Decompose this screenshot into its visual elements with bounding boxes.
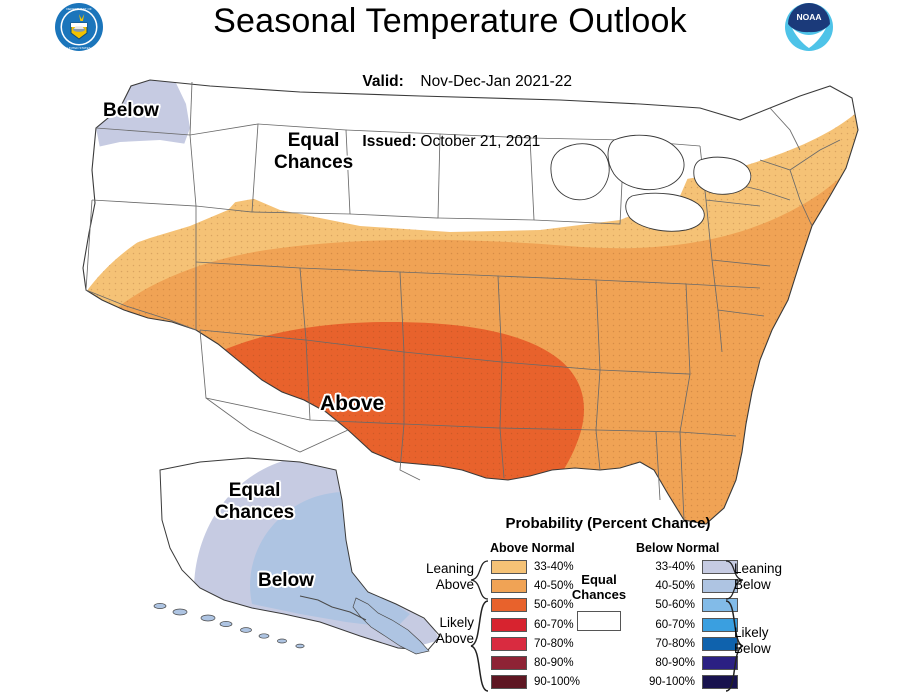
- valid-label: Valid:: [362, 72, 420, 92]
- legend-likely-below-label: Likely Below: [734, 625, 818, 657]
- map-label-below-alaska: Below: [258, 570, 314, 592]
- outlook-map-page: Seasonal Temperature Outlook Valid:Nov-D…: [0, 0, 900, 695]
- svg-text:NOAA: NOAA: [796, 12, 821, 22]
- likely-below-line2: Below: [734, 641, 818, 657]
- map-label-equal-chances-plains-line1: Equal: [274, 130, 353, 152]
- equal-chances-line1: Equal: [553, 572, 645, 587]
- map-label-equal-chances-plains-line2: Chances: [274, 152, 353, 174]
- map-label-below-washington: Below: [103, 100, 159, 122]
- likely-above-line1: Likely: [398, 615, 474, 631]
- legend-range-b-1: 40-50%: [641, 580, 695, 592]
- legend-swatch-a-40-50%: [491, 579, 527, 593]
- issued-value: October 21, 2021: [420, 133, 540, 150]
- legend-range-b-6: 90-100%: [641, 676, 695, 688]
- legend-swatch-a-60-70%: [491, 618, 527, 632]
- legend-title: Probability (Percent Chance): [398, 515, 818, 532]
- leaning-below-line2: Below: [734, 577, 818, 593]
- legend-row-a-6: 90-100%: [491, 673, 588, 692]
- legend-range-b-5: 80-90%: [641, 657, 695, 669]
- leaning-above-line1: Leaning: [398, 561, 474, 577]
- svg-text:DEPARTMENT OF: DEPARTMENT OF: [66, 7, 92, 11]
- legend-likely-above-label: Likely Above: [398, 615, 474, 647]
- legend-swatch-a-33-40%: [491, 560, 527, 574]
- legend-leaning-below-label: Leaning Below: [734, 561, 818, 593]
- equal-chances-swatch: [577, 611, 621, 631]
- legend-equal-chances: Equal Chances: [553, 572, 645, 631]
- legend-swatch-a-70-80%: [491, 637, 527, 651]
- likely-above-brace-icon: [468, 599, 490, 695]
- map-label-above-southern-plains: Above: [320, 393, 384, 415]
- legend-above-heading: Above Normal: [490, 541, 575, 555]
- issued-label: Issued:: [362, 132, 420, 152]
- legend-range-b-0: 33-40%: [641, 561, 695, 573]
- legend-range-b-4: 70-80%: [641, 638, 695, 650]
- legend-range-b-2: 50-60%: [641, 599, 695, 611]
- leaning-above-line2: Above: [398, 577, 474, 593]
- likely-above-line2: Above: [398, 631, 474, 647]
- map-label-equal-chances-plains: Equal Chances: [274, 130, 353, 174]
- svg-text:UNITED STATES: UNITED STATES: [67, 46, 90, 50]
- legend-below-heading: Below Normal: [636, 541, 719, 555]
- legend-range-b-3: 60-70%: [641, 619, 695, 631]
- legend-leaning-above-label: Leaning Above: [398, 561, 474, 593]
- leaning-below-line1: Leaning: [734, 561, 818, 577]
- probability-legend: Probability (Percent Chance) Above Norma…: [398, 515, 818, 693]
- legend-range-a-5: 80-90%: [534, 657, 588, 669]
- map-label-equal-chances-alaska-line2: Chances: [215, 502, 294, 524]
- page-title: Seasonal Temperature Outlook: [0, 2, 900, 41]
- legend-swatch-a-50-60%: [491, 598, 527, 612]
- valid-value: Nov-Dec-Jan 2021-22: [420, 73, 572, 90]
- map-label-equal-chances-alaska-line1: Equal: [215, 480, 294, 502]
- equal-chances-line2: Chances: [553, 587, 645, 602]
- legend-range-a-6: 90-100%: [534, 676, 588, 688]
- department-of-commerce-seal-icon: DEPARTMENT OF UNITED STATES: [53, 1, 105, 53]
- likely-below-line1: Likely: [734, 625, 818, 641]
- map-label-equal-chances-alaska: Equal Chances: [215, 480, 294, 524]
- noaa-logo-icon: NOAA: [784, 2, 834, 52]
- legend-row-a-5: 80-90%: [491, 653, 588, 672]
- legend-swatch-a-80-90%: [491, 656, 527, 670]
- legend-range-a-0: 33-40%: [534, 561, 588, 573]
- legend-swatch-a-90-100%: [491, 675, 527, 689]
- legend-row-a-4: 70-80%: [491, 634, 588, 653]
- legend-range-a-4: 70-80%: [534, 638, 588, 650]
